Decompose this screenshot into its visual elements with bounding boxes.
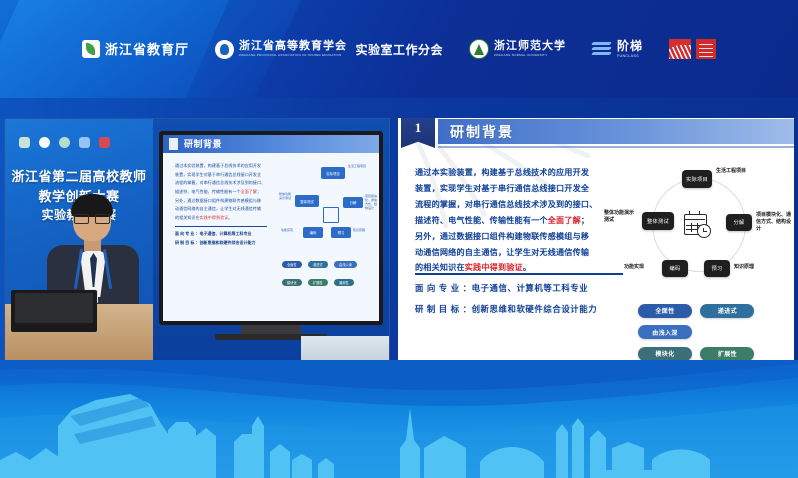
glasses-icon [74,214,110,222]
mini-node-1: 分解 [343,197,363,208]
backdrop-wave-icon [79,137,90,148]
mini-node-2: 预习 [331,227,351,238]
mini-divider [175,226,267,227]
meta-major: 面 向 专 业 ：电子通信、计算机等工科专业 [415,282,655,294]
mini-cap-2: 知识原理 [353,229,375,233]
backdrop-leaf-icon [19,137,30,148]
sponsor-name-3: 阶梯 [617,40,643,52]
sponsor-sub-2: ZHEJIANG NORMAL UNIVERSITY [494,54,560,57]
mini-pill-0: 全面性 [282,261,302,268]
mini-pill-2: 由浅入深 [334,261,357,268]
slide-para-5: 动通信网络的自主通信，让学生对无线通信传输 [415,246,615,260]
mini-cap-3: 功能实现 [281,229,301,233]
slide-para-0: 通过本实验装置，构建基于总线技术的应用开发 [415,166,615,180]
cycle-caption-2: 知识原理 [734,264,770,271]
emphasis-text: 实践中得到验证 [465,263,523,272]
pill-3: 模块化 [638,347,692,361]
mini-pill-4: 扩展性 [308,279,328,286]
stage-floor [301,336,390,362]
footer-skyline [0,360,798,478]
mini-node-0: 实际项目 [321,167,345,179]
slide-panel: 1 研制背景 通过本实验装置，构建基于总线技术的应用开发 装置，实现学生对基于串… [398,118,794,361]
backdrop-title-line1: 浙江省第二届高校教师 [5,167,153,187]
cycle-node-4: 整体测试 [642,212,674,230]
sponsor-name-0: 浙江省教育厅 [105,43,189,56]
sponsor-logo-0: 浙江省教育厅 [82,40,189,58]
slide-para-2: 流程的掌握，对串行通信总线技术涉及到的接口、 [415,198,615,212]
mini-pill-3: 模块化 [282,279,302,286]
process-cycle-diagram: 实际项目 生活工程项目 分解 项目模块化、通信方式、结构设计 预习 知识原理 编… [620,160,794,295]
mini-calendar-icon [323,207,339,223]
mini-para-0: 通过本实验装置，构建基于总线技术的应用开发 [175,163,271,169]
pill-4: 扩展性 [700,347,754,361]
slide-para-1: 装置，实现学生对基于串行通信总线接口开发全 [415,182,615,196]
header-rule [438,146,794,148]
emphasis-text: 全面了解 [548,216,581,225]
mini-cap-1: 项目模块化、通信方式、结构设计 [365,195,377,211]
mini-section-number [169,138,178,150]
sponsor-logo-3: 阶梯 FUNCLASS [592,40,643,58]
sponsor-side-1: 实验室工作分会 [355,41,443,58]
projection-wall: 研制背景 通过本实验装置，构建基于总线技术的应用开发 装置，实现学生对基于串行通… [153,119,389,362]
sponsor-logo-row: 浙江省教育厅 浙江省高等教育学会 ZHEJIANG PROVINCIAL ASS… [0,0,798,98]
calendar-clock-icon [684,212,712,238]
mini-node-4: 整体测试 [295,195,319,207]
sponsor-logo-1: 浙江省高等教育学会 ZHEJIANG PROVINCIAL ASSOCIATIO… [215,40,443,59]
attribute-pill-group: 全面性 递进式 由浅入深 模块化 扩展性 通用性 [638,300,794,361]
slide-para-4: 另外，通过数据接口组件构建物联传感模组与移 [415,230,615,244]
screen-stand [241,325,301,334]
sponsor-name-1: 浙江省高等教育学会 [239,41,350,52]
mini-para-2: 流程的掌握，对串行通信总线技术涉及到的接口、 [175,180,271,186]
section-title: 研制背景 [450,122,514,142]
backdrop-seal-icon [39,137,50,148]
slide-para-3: 描述符、电气性能、传输性能有一个全面了解； [415,214,615,228]
cycle-caption-1: 项目模块化、通信方式、结构设计 [756,212,792,232]
mini-slide-header: 研制背景 [163,135,379,153]
cycle-node-2: 预习 [704,260,730,277]
mini-para-5: 动通信网络的自主通信，让学生对无线通信传输 [175,206,271,212]
mini-meta-1: 研 制 目 标 ：创新思维和软硬件综合设计能力 [175,240,271,246]
screenshot-root: 浙江省教育厅 浙江省高等教育学会 ZHEJIANG PROVINCIAL ASS… [0,0,798,478]
mini-pill-5: 通用性 [334,279,354,286]
cycle-node-3: 编码 [662,260,688,277]
backdrop-red-icon [99,137,110,148]
slide-meta: 面 向 专 业 ：电子通信、计算机等工科专业 研 制 目 标 ：创新思维和软硬件… [415,282,655,324]
cycle-caption-0: 生活工程项目 [716,168,762,175]
cycle-caption-3: 功能实现 [624,264,658,271]
cycle-node-1: 分解 [726,214,752,231]
projection-screen: 研制背景 通过本实验装置，构建基于总线技术的应用开发 装置，实现学生对基于串行通… [163,135,379,321]
slide-body-text: 通过本实验装置，构建基于总线技术的应用开发 装置，实现学生对基于串行通信总线接口… [415,166,615,277]
pill-2: 由浅入深 [638,325,692,339]
sponsor-sub-3: FUNCLASS [617,54,641,58]
mini-meta-0: 面 向 专 业 ：电子通信、计算机等工科专业 [175,231,271,237]
sponsor-sub-1: ZHEJIANG PROVINCIAL ASSOCIATION OF HIGHE… [239,54,341,57]
presenter-video[interactable]: 浙江省第二届高校教师 教学创新大赛 实验教学决赛 [4,118,390,363]
mini-cap-4: 整体功能演示测试 [279,193,293,201]
cycle-node-0: 实际项目 [682,170,712,188]
sponsor-logo-4 [669,39,716,59]
mini-diagram: 实际项目 生活工程项目 分解 项目模块化、通信方式、结构设计 预习 知识原理 编… [281,161,375,316]
mini-para-4: 另外，通过数据接口组件构建物联传感模组与移 [175,198,271,204]
pill-0: 全面性 [638,304,692,318]
mini-slide-text: 通过本实验装置，构建基于总线技术的应用开发 装置，实现学生对基于串行通信总线接口… [175,163,271,249]
slide-divider [415,273,623,275]
stage-backdrop: 浙江省第二届高校教师 教学创新大赛 实验教学决赛 [5,119,153,362]
laptop [11,290,97,332]
university-crest-icon [469,39,489,59]
section-title-bar: 研制背景 [438,119,794,144]
sponsor-band: 浙江省教育厅 浙江省高等教育学会 ZHEJIANG PROVINCIAL ASS… [0,0,798,98]
mini-pill-1: 递进式 [308,261,328,268]
red-seal-secondary-icon [696,39,716,59]
wave-mark-icon [592,41,612,57]
section-number-badge: 1 [401,118,435,148]
mini-node-3: 编码 [303,227,323,238]
sponsor-name-2: 浙江师范大学 [494,41,566,52]
red-seal-icon [669,39,691,59]
mini-para-6: 的相关知识在实践中得到验证。 [175,215,271,221]
backdrop-crest-icon [59,137,70,148]
mini-section-title: 研制背景 [184,137,222,150]
leaf-book-icon [82,40,100,58]
mini-cap-0: 生活工程项目 [348,165,374,169]
meta-goal: 研 制 目 标 ：创新思维和软硬件综合设计能力 [415,303,655,315]
pill-1: 递进式 [700,304,754,318]
city-silhouette [0,386,798,478]
projection-screen-frame: 研制背景 通过本实验装置，构建基于总线技术的应用开发 装置，实现学生对基于串行通… [159,131,383,325]
mini-para-1: 装置，实现学生对基于串行通信总线接口开发全 [175,172,271,178]
cycle-caption-4: 整体功能演示测试 [604,210,638,224]
seal-circle-icon [215,40,234,59]
sponsor-logo-2: 浙江师范大学 ZHEJIANG NORMAL UNIVERSITY [469,39,566,59]
section-number: 1 [415,120,422,136]
mini-para-3: 描述符、电气性能、传输性能有一个全面了解； [175,189,271,195]
backdrop-logo-row [19,137,110,148]
slide-header: 1 研制背景 [398,118,794,149]
